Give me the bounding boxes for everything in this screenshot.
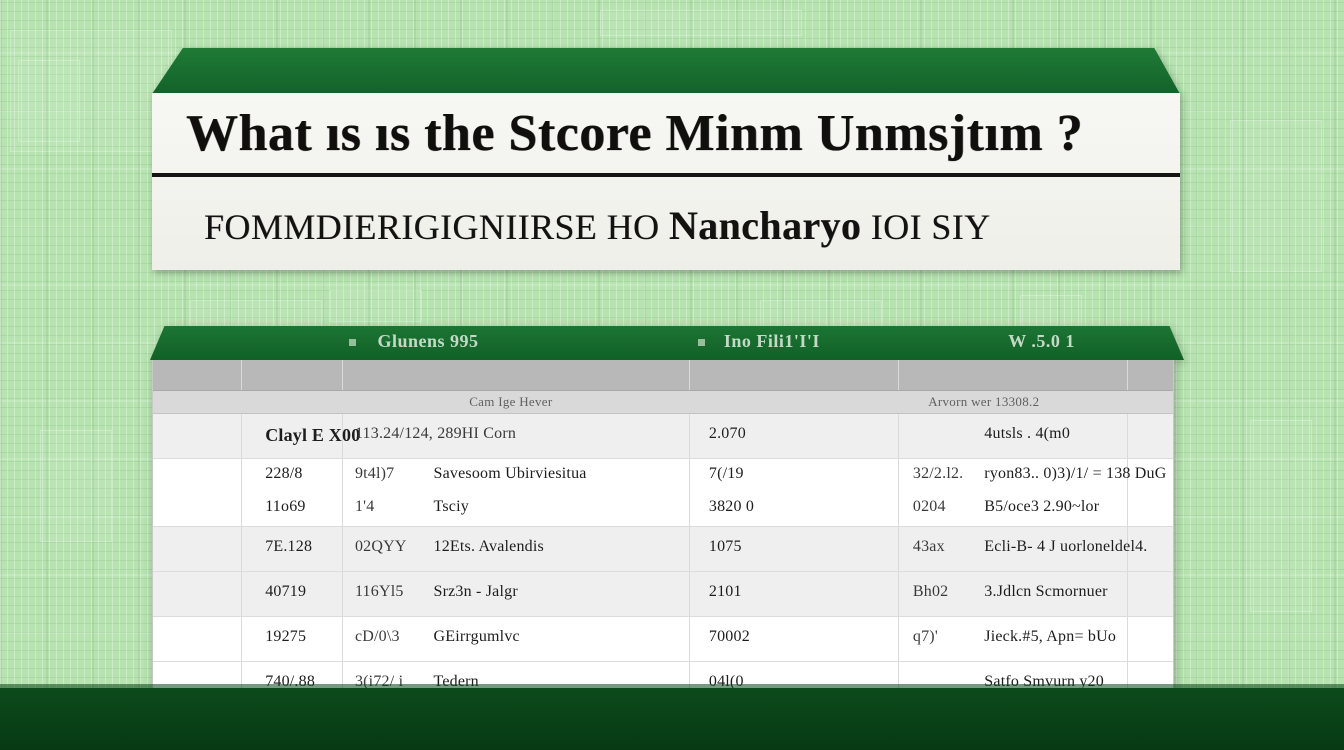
table-green-topbar bbox=[150, 326, 1184, 360]
page-subtitle: FOMMDIERIGIGNIIRSE HO Nancharyo IOI SIY bbox=[152, 202, 991, 249]
title-card-green-topbar bbox=[152, 48, 1180, 94]
table-column-rule-4 bbox=[1127, 617, 1128, 661]
table-row[interactable]: 19275cD/0\3GEirrgumlvc70002q7)'Jieck.#5,… bbox=[153, 617, 1173, 662]
table-column-rule-4 bbox=[1127, 391, 1128, 413]
table-cell-col3b: ryon83.. 0)3)/1/ = 138 DuG bbox=[984, 465, 1166, 483]
table-column-rule-2 bbox=[689, 459, 690, 526]
table-cell-col1b: Srz3n - Jalgr bbox=[434, 583, 518, 601]
table-column-rule-1 bbox=[342, 527, 343, 571]
table-column-rule-4 bbox=[1127, 572, 1128, 616]
table-column-rule-0 bbox=[241, 414, 242, 458]
table-column-rule-2 bbox=[689, 527, 690, 571]
table-row[interactable]: 228/89t4l)7Savesoom Ubirviesitua7(/1932/… bbox=[153, 459, 1173, 527]
subtitle-emphasis: Nancharyo bbox=[669, 203, 862, 248]
table-column-rule-2 bbox=[689, 572, 690, 616]
table-subheader-label-1: Arvorn wer 13308.2 bbox=[928, 394, 1039, 410]
table-cell-col0: 40719 bbox=[265, 583, 306, 601]
table-column-rule-2 bbox=[689, 414, 690, 458]
table-cell-col3a: 32/2.l2. bbox=[913, 465, 964, 483]
table-header-band bbox=[153, 360, 1173, 391]
table-column-rule-1 bbox=[342, 391, 343, 413]
table-column-rule-3 bbox=[898, 360, 899, 390]
table-cell-col0: 7E.128 bbox=[265, 538, 312, 556]
table-cell-col1a: cD/0\3 bbox=[355, 628, 400, 646]
table-cell-col1b: Tsciy bbox=[434, 498, 469, 516]
title-headline-row: What ıs ıs the Stcore Minm Unmsjtım ? bbox=[152, 93, 1180, 177]
table-column-rule-0 bbox=[241, 527, 242, 571]
title-subtitle-row: FOMMDIERIGIGNIIRSE HO Nancharyo IOI SIY bbox=[152, 181, 1180, 270]
subtitle-prefix: FOMMDIERIGIGNIIRSE HO bbox=[204, 207, 659, 247]
table-column-rule-0 bbox=[241, 459, 242, 526]
slide-canvas: What ıs ıs the Stcore Minm Unmsjtım ? FO… bbox=[0, 0, 1344, 750]
table-column-rule-3 bbox=[898, 459, 899, 526]
table-cell-col0: 228/8 bbox=[265, 465, 302, 483]
table-column-rule-1 bbox=[342, 572, 343, 616]
table-subheader-band: Cam Ige HeverArvorn wer 13308.2 bbox=[153, 391, 1173, 414]
table-subheader-label-0: Cam Ige Hever bbox=[469, 394, 552, 410]
table-column-rule-3 bbox=[898, 617, 899, 661]
table-cell-col1a: 113.24/124, 289HI Corn bbox=[355, 425, 516, 443]
table-column-rule-1 bbox=[342, 617, 343, 661]
table-cell-col3b: 3.Jdlcn Scmornuer bbox=[984, 583, 1107, 601]
table-cell-col2: 1075 bbox=[709, 538, 742, 556]
table-cell-col2: 2101 bbox=[709, 583, 742, 601]
table-cell-col3a: q7)' bbox=[913, 628, 938, 646]
table-column-rule-0 bbox=[241, 360, 242, 390]
table-cell-col3b: B5/oce3 2.90~lor bbox=[984, 498, 1099, 516]
table-cell-col3b: 4utsls . 4(m0 bbox=[984, 425, 1070, 443]
table-cell-col2: 2.070 bbox=[709, 425, 746, 443]
title-card: What ıs ıs the Stcore Minm Unmsjtım ? FO… bbox=[152, 48, 1180, 270]
data-table-card: Glunens 995Ino Fili1'I'IW .5.0 1 Cam Ige… bbox=[150, 326, 1184, 694]
table-cell-col1a: 9t4l)7 bbox=[355, 465, 394, 483]
title-card-body: What ıs ıs the Stcore Minm Unmsjtım ? FO… bbox=[152, 93, 1180, 270]
table-cell-col2: 70002 bbox=[709, 628, 750, 646]
footer-bar bbox=[0, 688, 1344, 750]
table-cell-col2: 7(/19 bbox=[709, 465, 744, 483]
table-cell-col1b: Savesoom Ubirviesitua bbox=[434, 465, 587, 483]
table-cell-col3b: Ecli-B- 4 J uorloneldel4. bbox=[984, 538, 1147, 556]
table-cell-col3a: 43ax bbox=[913, 538, 945, 556]
table-cell-col1b: GEirrgumlvc bbox=[434, 628, 520, 646]
table-cell-col1a: 116Yl5 bbox=[355, 583, 404, 601]
table-column-rule-2 bbox=[689, 391, 690, 413]
table-column-rule-4 bbox=[1127, 360, 1128, 390]
table-column-rule-0 bbox=[241, 391, 242, 413]
table-cell-col1a: 02QYY bbox=[355, 538, 407, 556]
table-column-rule-3 bbox=[898, 527, 899, 571]
table-cell-col3a: 0204 bbox=[913, 498, 946, 516]
table-column-rule-1 bbox=[342, 459, 343, 526]
table-row[interactable]: 40719116Yl5Srz3n - Jalgr2101Bh023.Jdlcn … bbox=[153, 572, 1173, 617]
table-cell-col0: 19275 bbox=[265, 628, 306, 646]
page-title: What ıs ıs the Stcore Minm Unmsjtım ? bbox=[152, 104, 1083, 163]
table-cell-col3a: Bh02 bbox=[913, 583, 948, 601]
table-column-rule-4 bbox=[1127, 414, 1128, 458]
table-column-rule-2 bbox=[689, 617, 690, 661]
table-cell-col1a: 1'4 bbox=[355, 498, 374, 516]
table-row[interactable]: Clayl E X00113.24/124, 289HI Corn2.0704u… bbox=[153, 414, 1173, 459]
table-cell-col0: 11o69 bbox=[265, 498, 305, 516]
table-column-rule-0 bbox=[241, 617, 242, 661]
table-cell-col0: Clayl E X00 bbox=[265, 425, 360, 446]
table-column-rule-2 bbox=[689, 360, 690, 390]
data-table: Cam Ige HeverArvorn wer 13308.2Clayl E X… bbox=[152, 359, 1174, 693]
table-column-rule-3 bbox=[898, 391, 899, 413]
table-column-rule-3 bbox=[898, 572, 899, 616]
table-column-rule-0 bbox=[241, 572, 242, 616]
table-column-rule-3 bbox=[898, 414, 899, 458]
table-cell-col1b: 12Ets. Avalendis bbox=[434, 538, 544, 556]
table-cell-col2: 3820 0 bbox=[709, 498, 754, 516]
subtitle-suffix: IOI SIY bbox=[871, 207, 991, 247]
table-cell-col3b: Jieck.#5, Apn= bUo bbox=[984, 628, 1116, 646]
table-column-rule-1 bbox=[342, 360, 343, 390]
table-row[interactable]: 7E.12802QYY12Ets. Avalendis107543axEcli-… bbox=[153, 527, 1173, 572]
